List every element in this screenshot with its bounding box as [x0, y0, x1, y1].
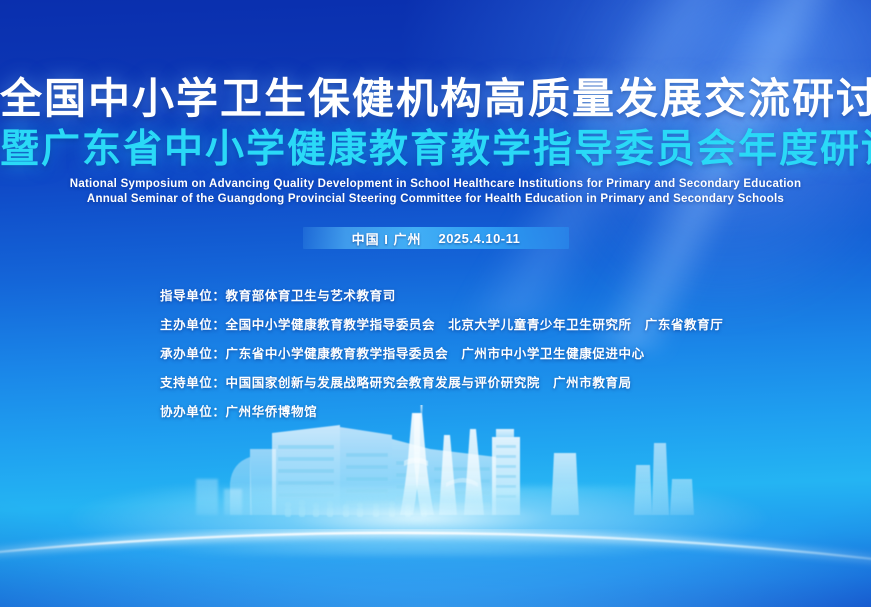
- page-title-line2: 暨广东省中小学健康教育教学指导委员会年度研讨活动: [0, 130, 871, 169]
- date-text: 2025.4.10-11: [438, 231, 520, 246]
- list-item: 指导单位： 教育部体育卫生与艺术教育司: [160, 288, 723, 304]
- org-label: 承办单位：: [160, 346, 226, 362]
- org-label: 主办单位：: [160, 317, 226, 333]
- list-item: 主办单位： 全国中小学健康教育教学指导委员会 北京大学儿童青少年卫生研究所 广东…: [160, 317, 723, 333]
- list-item: 支持单位： 中国国家创新与发展战略研究会教育发展与评价研究院 广州市教育局: [160, 375, 723, 391]
- school-building: [230, 425, 496, 517]
- location-date-bar: 中国 I 广州 2025.4.10-11: [303, 227, 569, 249]
- org-label: 指导单位：: [160, 288, 226, 304]
- org-label: 协办单位：: [160, 404, 226, 420]
- english-subtitle-line1: National Symposium on Advancing Quality …: [0, 177, 871, 192]
- light-arc-graphic: [0, 455, 871, 605]
- list-item: 承办单位： 广东省中小学健康教育教学指导委员会 广州市中小学卫生健康促进中心: [160, 346, 723, 362]
- english-subtitle-line2: Annual Seminar of the Guangdong Provinci…: [0, 192, 871, 207]
- english-subtitle: National Symposium on Advancing Quality …: [0, 177, 871, 206]
- right-skyscrapers: [551, 443, 694, 515]
- org-label: 支持单位：: [160, 375, 226, 391]
- org-value: 全国中小学健康教育教学指导委员会 北京大学儿童青少年卫生研究所 广东省教育厅: [226, 317, 724, 333]
- org-value: 广东省中小学健康教育教学指导委员会 广州市中小学卫生健康促进中心: [226, 346, 645, 362]
- office-tower-stepped: [492, 429, 520, 515]
- list-item: 协办单位： 广州华侨博物馆: [160, 404, 723, 420]
- organizations-list: 指导单位： 教育部体育卫生与艺术教育司 主办单位： 全国中小学健康教育教学指导委…: [160, 288, 723, 433]
- left-far-buildings: [196, 479, 242, 515]
- horizon-glow: [0, 486, 871, 556]
- org-value: 广州华侨博物馆: [226, 404, 318, 420]
- location-text: 中国 I 广州: [352, 229, 422, 248]
- org-value: 中国国家创新与发展战略研究会教育发展与评价研究院 广州市教育局: [226, 375, 632, 391]
- twin-towers: [439, 429, 484, 515]
- page-title-line1: 全国中小学卫生保健机构高质量发展交流研讨活动: [0, 78, 871, 120]
- org-value: 教育部体育卫生与艺术教育司: [226, 288, 396, 304]
- conference-poster: 全国中小学卫生保健机构高质量发展交流研讨活动 暨广东省中小学健康教育教学指导委员…: [0, 0, 871, 607]
